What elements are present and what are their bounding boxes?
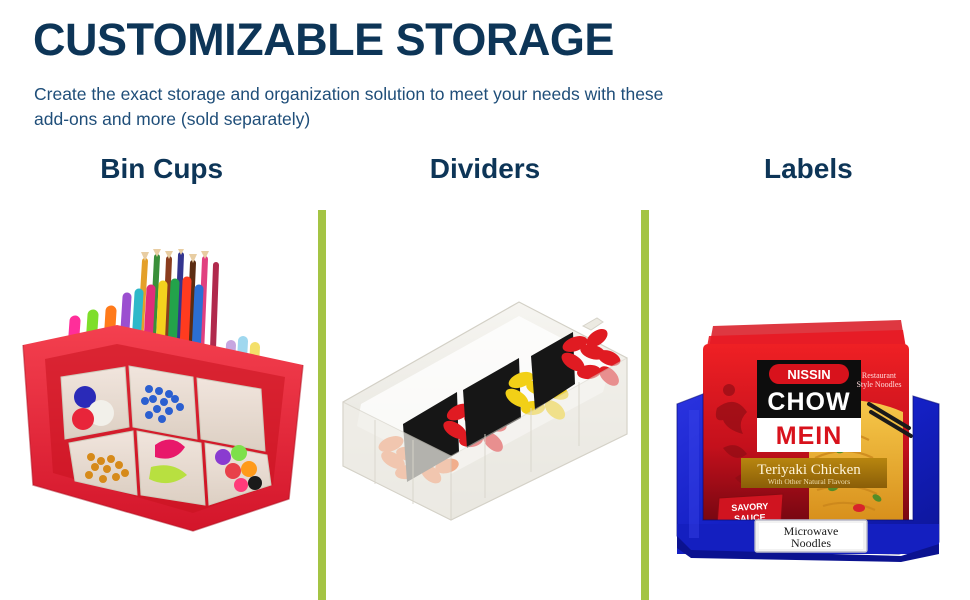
feature-heading-dividers: Dividers <box>430 149 541 189</box>
bin-label-holder: Microwave Noodles <box>755 520 867 552</box>
product-image-labels: NISSIN CHOW MEIN Restaurant Style Noodle… <box>647 189 970 600</box>
package-flavor-note: With Other Natural Flavors <box>768 477 850 486</box>
feature-column-dividers: Dividers <box>323 142 646 600</box>
product-image-bin-cups <box>0 189 323 600</box>
package-name-line-2: MEIN <box>776 422 843 450</box>
package-name-line-1: CHOW <box>768 388 851 416</box>
feature-column-labels: Labels <box>647 142 970 600</box>
page-subtitle: Create the exact storage and organizatio… <box>34 82 674 132</box>
feature-column-bin-cups: Bin Cups <box>0 142 323 600</box>
page-title: CUSTOMIZABLE STORAGE <box>33 14 614 66</box>
package-flavor: Teriyaki Chicken <box>758 462 862 478</box>
package-corner-note-2: Style Noodles <box>857 380 902 389</box>
package-brand: NISSIN <box>788 367 831 382</box>
product-image-dividers <box>323 189 646 600</box>
package-corner-note-1: Restaurant <box>862 371 897 380</box>
package-badge-line-1: SAVORY <box>731 501 768 513</box>
feature-heading-bin-cups: Bin Cups <box>100 149 223 189</box>
feature-columns: Bin Cups <box>0 142 970 600</box>
feature-heading-labels: Labels <box>764 149 853 189</box>
product-packages: NISSIN CHOW MEIN Restaurant Style Noodle… <box>703 320 911 530</box>
bin-label-line-2: Noodles <box>791 536 831 550</box>
